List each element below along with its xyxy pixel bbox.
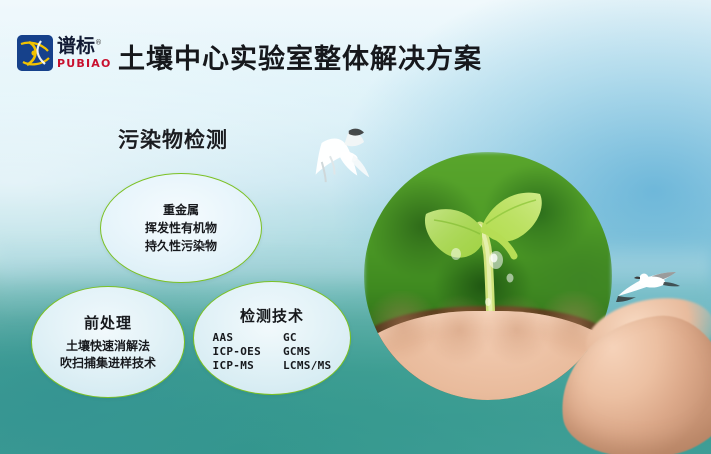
hand-holding-sprout-photo: [364, 152, 612, 400]
page-title: 土壤中心实验室整体解决方案: [118, 37, 482, 76]
list-item: 土壤快速消解法: [60, 338, 156, 355]
registered-mark: ®: [95, 38, 102, 46]
bubble-title-pretreatment: 前处理: [84, 312, 132, 333]
section-heading-pollutant-detection: 污染物检测: [118, 124, 228, 154]
poster-canvas: 谱标® PUBIAO 土壤中心实验室整体解决方案 污染物检测 重金属 挥发性有机…: [0, 0, 711, 454]
technique-item: GCMS: [283, 345, 331, 358]
bubble-pretreatment: 前处理 土壤快速消解法 吹扫捕集进样技术: [31, 286, 185, 398]
technique-item: ICP-MS: [213, 359, 261, 372]
pretreatment-method-list: 土壤快速消解法 吹扫捕集进样技术: [60, 338, 156, 373]
pubiao-swirl-logo-icon: [17, 35, 53, 71]
technique-item: ICP-OES: [213, 345, 261, 358]
technique-item: AAS: [213, 331, 261, 344]
list-item: 吹扫捕集进样技术: [60, 355, 156, 372]
brand-wordmark: 谱标® PUBIAO: [57, 37, 112, 70]
brand-name-en: PUBIAO: [57, 58, 112, 69]
pollutant-type-list: 重金属 挥发性有机物 持久性污染物: [145, 201, 217, 255]
brand-logo[interactable]: 谱标® PUBIAO: [17, 35, 112, 71]
poster-header: 谱标® PUBIAO 土壤中心实验室整体解决方案: [0, 0, 711, 105]
brand-name-cn: 谱标: [57, 35, 95, 57]
list-item: 持久性污染物: [145, 237, 217, 255]
detection-technique-grid: AAS GC ICP-OES GCMS ICP-MS LCMS/MS: [213, 331, 332, 372]
bubble-title-detection-technology: 检测技术: [240, 305, 304, 326]
fingers: [369, 291, 607, 375]
technique-item: LCMS/MS: [283, 359, 331, 372]
bubble-detection-technology: 检测技术 AAS GC ICP-OES GCMS ICP-MS LCMS/MS: [193, 281, 351, 395]
technique-item: GC: [283, 331, 331, 344]
list-item: 挥发性有机物: [145, 219, 217, 237]
bubble-pollutant-types: 重金属 挥发性有机物 持久性污染物: [100, 173, 262, 283]
list-item: 重金属: [145, 201, 217, 219]
